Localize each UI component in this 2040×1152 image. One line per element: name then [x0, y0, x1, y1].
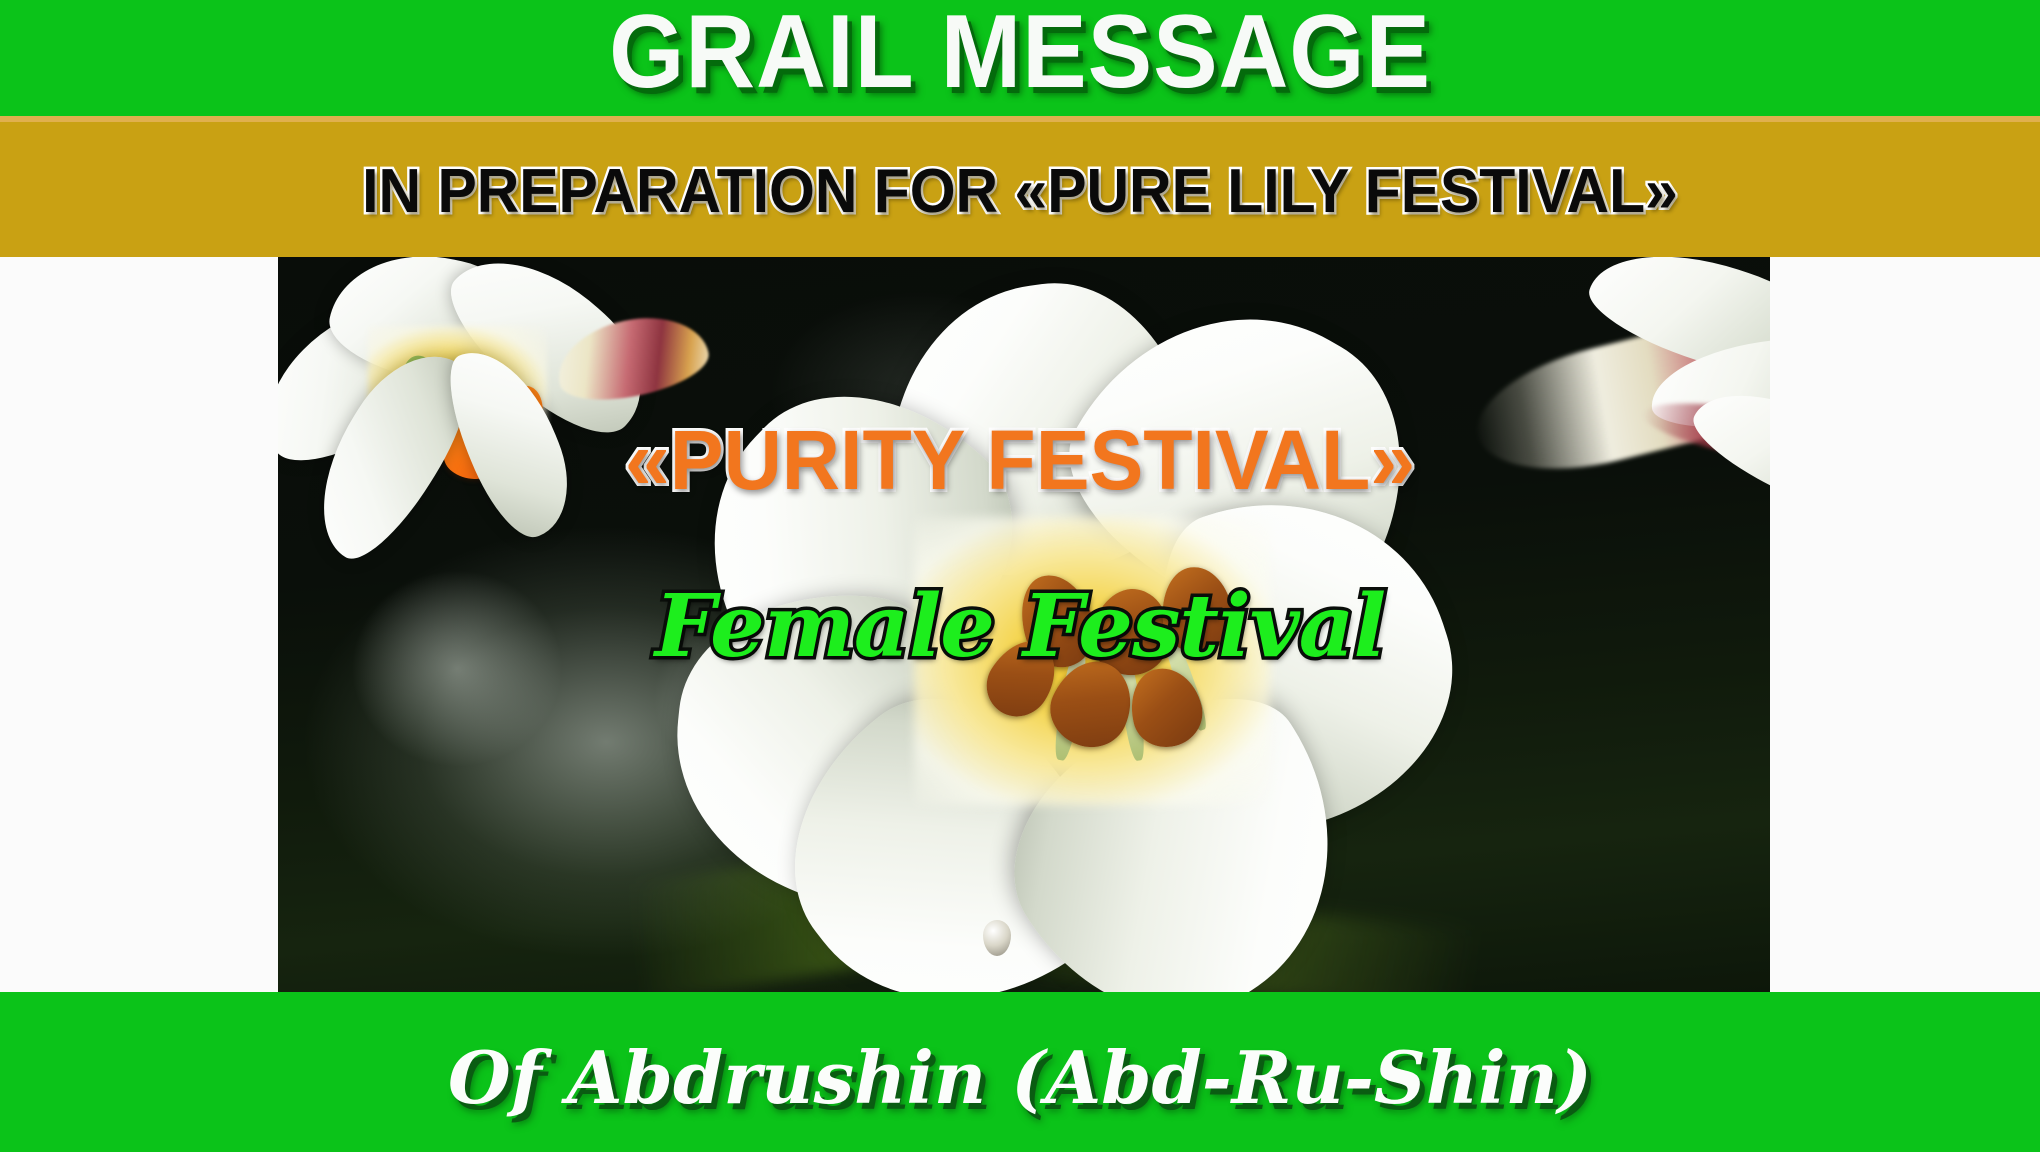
purity-festival-heading: «PURITY FESTIVAL» [41, 410, 1999, 510]
top-green-header: GRAIL MESSAGE [0, 0, 2040, 116]
page-title: GRAIL MESSAGE [71, 0, 1968, 110]
photo-stage: «PURITY FESTIVAL» Female Festival [0, 257, 2040, 992]
gold-subtitle-banner: IN PREPARATION FOR «PURE LILY FESTIVAL» [0, 116, 2040, 257]
author-attribution: Of Abdrushin (Abd-Ru-Shin) [0, 1032, 2040, 1124]
bottom-green-footer: Of Abdrushin (Abd-Ru-Shin) [0, 992, 2040, 1152]
subtitle-text: IN PREPARATION FOR «PURE LILY FESTIVAL» [51, 152, 1989, 232]
female-festival-subheading: Female Festival [0, 575, 2040, 679]
poster-root: GRAIL MESSAGE IN PREPARATION FOR «PURE L… [0, 0, 2040, 1152]
